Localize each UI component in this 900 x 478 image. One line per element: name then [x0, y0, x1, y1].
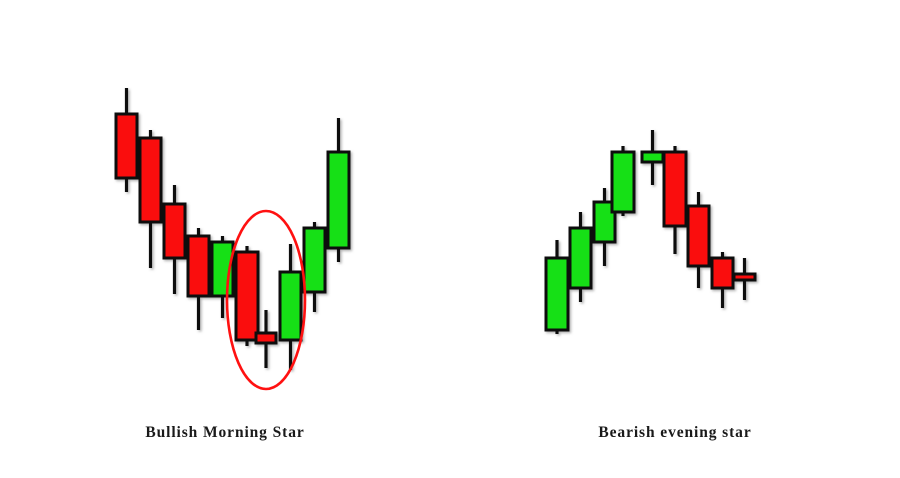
candle-2-red	[164, 185, 185, 294]
candle-9-green	[328, 118, 349, 262]
panel-bearish-evening-star: Bearish evening star	[450, 0, 900, 478]
candle-5-red	[236, 246, 258, 346]
candle-8-green	[304, 222, 325, 312]
panel-bullish-morning-star: Bullish Morning Star	[0, 0, 450, 478]
candle-series	[546, 130, 755, 334]
chart-bullish-morning-star	[0, 0, 450, 410]
candle-4-green	[212, 236, 233, 318]
candle-1-red	[140, 130, 161, 268]
candle-1-green	[570, 212, 591, 302]
candle-series	[116, 88, 349, 370]
chart-bearish-evening-star	[450, 0, 900, 410]
caption-bearish-evening-star: Bearish evening star	[450, 424, 900, 442]
candle-5-red	[664, 146, 686, 254]
candle-3-green	[612, 146, 634, 216]
candle-3-red	[188, 228, 209, 330]
candle-0-red	[116, 88, 137, 192]
candle-6-red	[688, 192, 709, 288]
candle-4-green	[642, 130, 663, 185]
candle-8-red	[734, 258, 755, 300]
caption-bullish-morning-star: Bullish Morning Star	[0, 424, 450, 442]
candle-0-green	[546, 240, 568, 334]
candlestick-pattern-figure: Bullish Morning Star Bearish evening sta…	[0, 0, 900, 478]
candle-7-red	[712, 252, 733, 308]
